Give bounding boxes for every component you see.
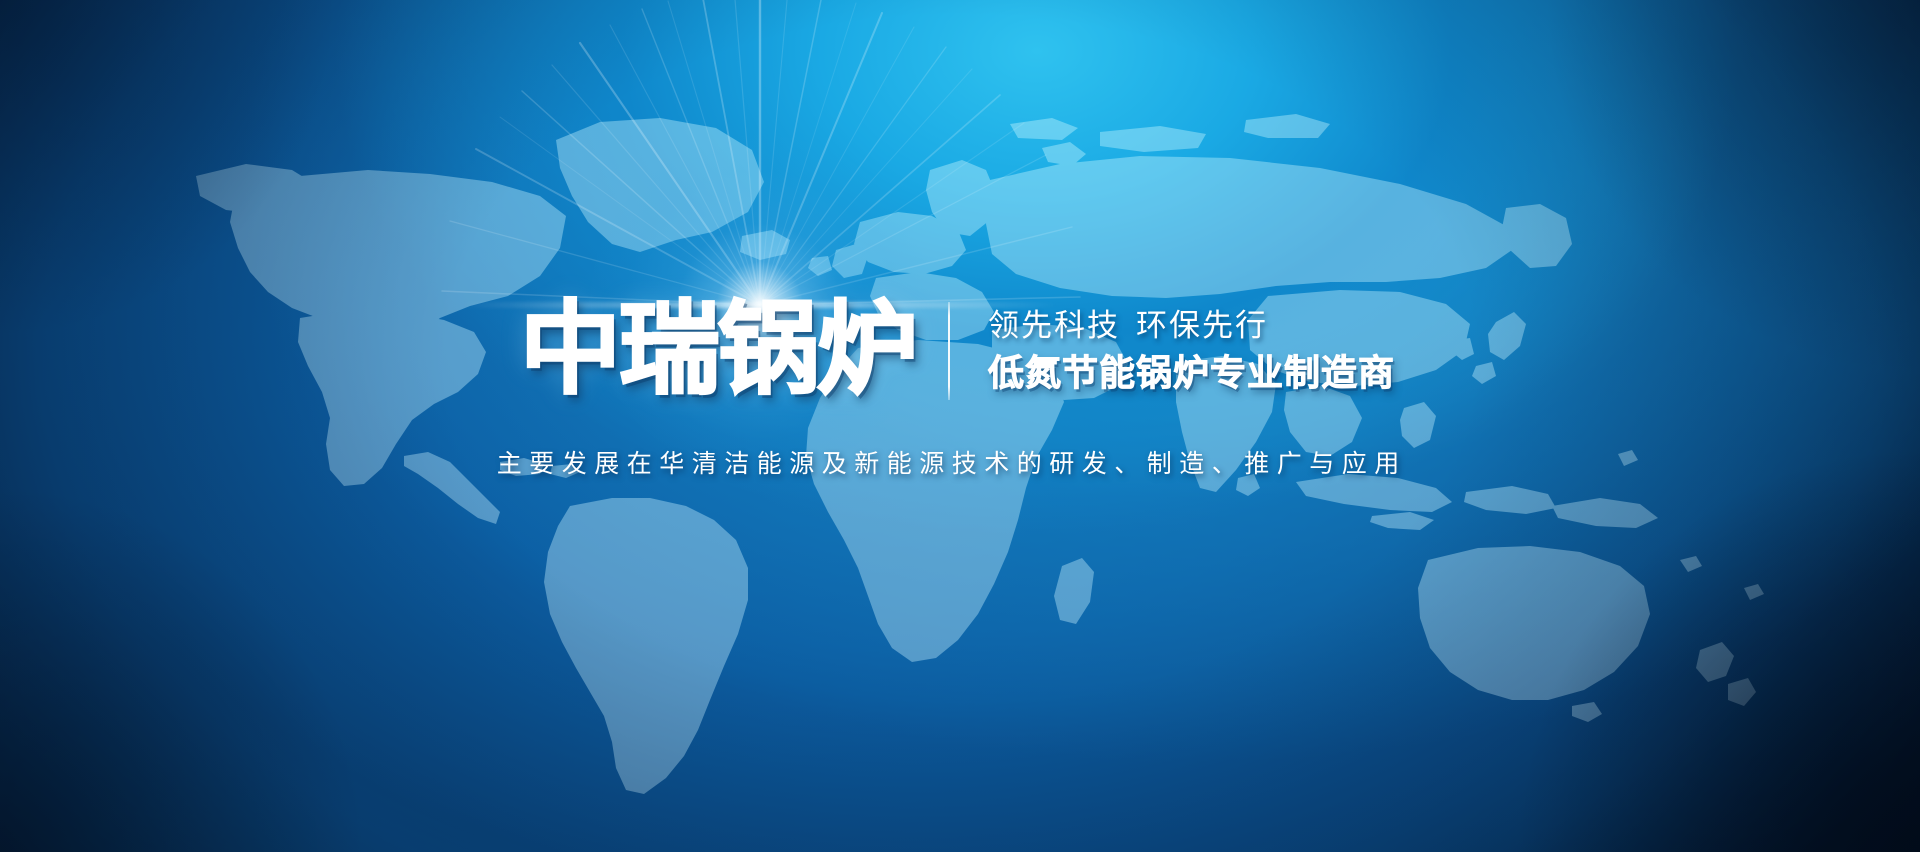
tagline-top-part1: 领先科技	[988, 308, 1120, 343]
tagline-top-part2: 环保先行	[1136, 308, 1268, 343]
brand-logo: 中瑞锅炉	[520, 300, 916, 401]
subtitle-text: 主要发展在华清洁能源及新能源技术的研发、制造、推广与应用	[497, 444, 1407, 480]
tagline-main: 低氮节能锅炉专业制造商	[988, 352, 1395, 393]
tagline-block: 领先科技环保先行 低氮节能锅炉专业制造商	[988, 308, 1395, 394]
vertical-divider	[948, 302, 950, 400]
headline-row: 中瑞锅炉 领先科技环保先行 低氮节能锅炉专业制造商	[520, 300, 1395, 401]
subtitle-wrapper: 主要发展在华清洁能源及新能源技术的研发、制造、推广与应用	[0, 444, 1920, 480]
tagline-top: 领先科技环保先行	[988, 308, 1395, 345]
hero-banner: 中瑞锅炉 领先科技环保先行 低氮节能锅炉专业制造商 主要发展在华清洁能源及新能源…	[0, 0, 1920, 852]
banner-content: 中瑞锅炉 领先科技环保先行 低氮节能锅炉专业制造商 主要发展在华清洁能源及新能源…	[0, 0, 1920, 852]
